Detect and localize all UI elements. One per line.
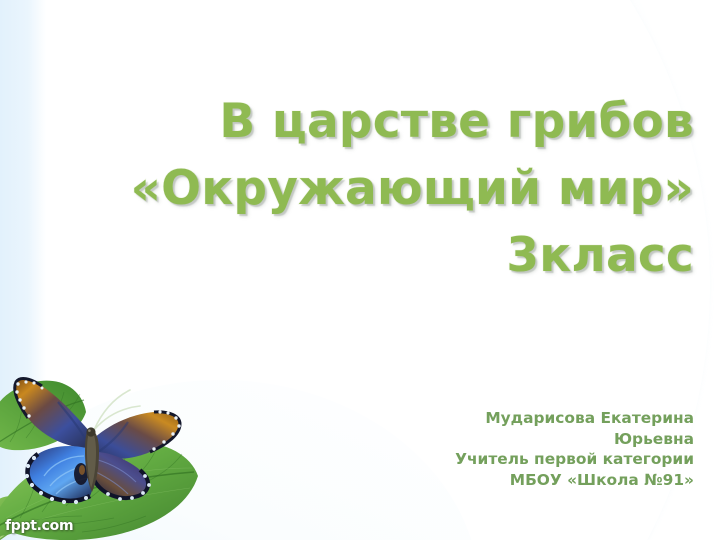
- subtitle-line-role: Учитель первой категории: [442, 449, 694, 470]
- slide-subtitle: Мударисова Екатерина Юрьевна Учитель пер…: [442, 408, 694, 490]
- title-line-2: «Окружающий мир»: [30, 155, 694, 222]
- subtitle-line-school: МБОУ «Школа №91»: [442, 470, 694, 491]
- fppt-watermark: fppt.com: [5, 518, 73, 534]
- title-line-3: 3класс: [30, 222, 694, 289]
- butterfly-on-leaf-image: [0, 346, 216, 540]
- slide-title: В царстве грибов «Окружающий мир» 3класс: [30, 88, 694, 289]
- slide-canvas: В царстве грибов «Окружающий мир» 3класс…: [0, 0, 720, 540]
- subtitle-line-author-first: Мударисова Екатерина: [442, 408, 694, 429]
- title-line-1: В царстве грибов: [30, 88, 694, 155]
- subtitle-line-author-second: Юрьевна: [442, 429, 694, 450]
